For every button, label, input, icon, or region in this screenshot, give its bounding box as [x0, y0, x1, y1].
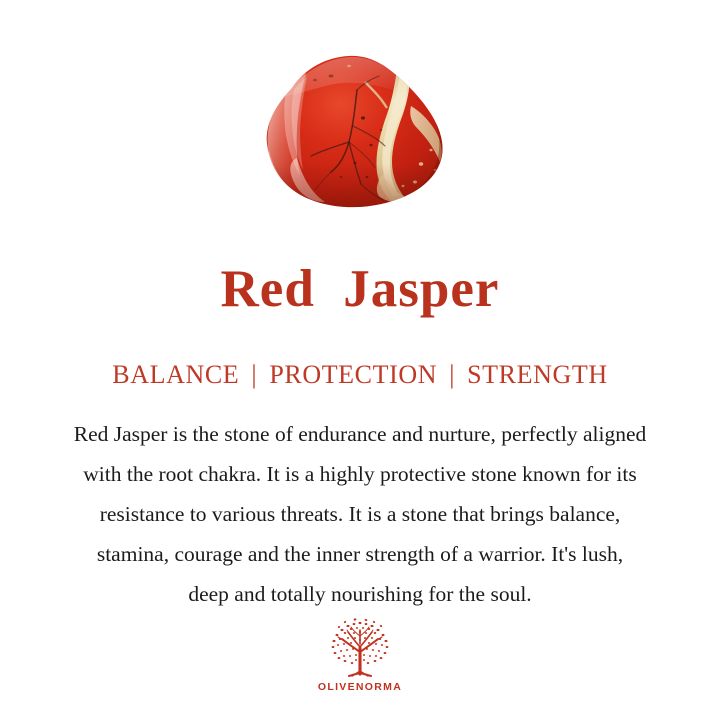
keyword-separator-2: |	[444, 360, 460, 390]
keyword-tagline: BALANCE | PROTECTION | STRENGTH	[0, 360, 720, 390]
description-line: resistance to various threats. It is a s…	[8, 494, 712, 534]
red-jasper-stone-photo	[245, 46, 475, 226]
poster-canvas: Red Jasper BALANCE | PROTECTION | STRENG…	[0, 0, 720, 720]
description-paragraph: Red Jasper is the stone of endurance and…	[8, 414, 712, 614]
stone-bottom-shade	[245, 164, 475, 226]
keyword-separator-1: |	[246, 360, 262, 390]
olivenorma-tree-logo-icon	[321, 618, 399, 680]
description-line: stamina, courage and the inner strength …	[8, 534, 712, 574]
keyword-balance: BALANCE	[112, 360, 239, 389]
description-line: Red Jasper is the stone of endurance and…	[8, 414, 712, 454]
keyword-protection: PROTECTION	[269, 360, 437, 389]
brand-wordmark: OLIVENORMA	[0, 682, 720, 693]
keyword-strength: STRENGTH	[467, 360, 608, 389]
description-line: with the root chakra. It is a highly pro…	[8, 454, 712, 494]
product-image-container	[0, 46, 720, 226]
tree-branches	[338, 627, 382, 676]
page-title: Red Jasper	[0, 262, 720, 318]
description-line: deep and totally nourishing for the soul…	[8, 574, 712, 614]
brand-logo[interactable]: OLIVENORMA	[0, 618, 720, 693]
